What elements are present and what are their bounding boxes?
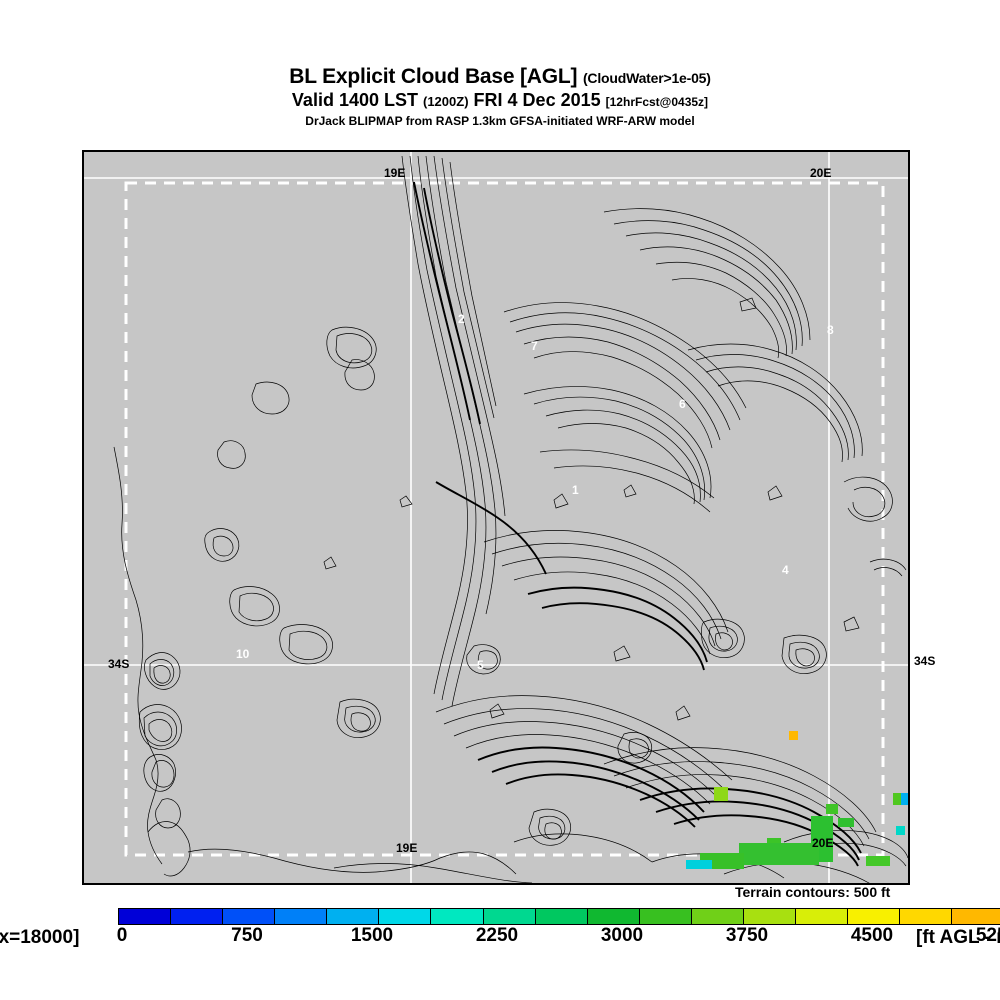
colorbar-tick-2250: 2250	[476, 925, 518, 947]
map-clip	[84, 152, 908, 883]
domain-boundary-dashed	[126, 183, 883, 855]
cloud-base-cells	[686, 731, 908, 869]
colorbar-cell-8	[536, 909, 588, 924]
lat-label-34s-right: 34S	[914, 654, 935, 668]
colorbar-cell-6	[431, 909, 483, 924]
colorbar-tick-4500: 4500	[851, 925, 893, 947]
colorbar-cell-7	[484, 909, 536, 924]
colorbar-cell-10	[640, 909, 692, 924]
lon-label-20e-top: 20E	[810, 166, 831, 180]
colorbar-cell-12	[744, 909, 796, 924]
map-plot-area[interactable]	[82, 150, 910, 885]
colorbar-cell-11	[692, 909, 744, 924]
waypoint-2[interactable]: 2	[458, 312, 465, 326]
waypoint-6[interactable]: 6	[679, 397, 686, 411]
valid-prefix: Valid 1400 LST	[292, 90, 418, 110]
colorbar-tick-0: 0	[117, 925, 128, 947]
colorbar-ticks: 075015002250300037504500525060006750	[0, 925, 1000, 951]
title-main: BL Explicit Cloud Base [AGL]	[289, 65, 577, 88]
forecast-tag: [12hrFcst@0435z]	[606, 95, 708, 109]
waypoint-1[interactable]: 1	[572, 483, 579, 497]
colorbar-cell-1	[171, 909, 223, 924]
waypoint-8[interactable]: 8	[827, 323, 834, 337]
waypoint-7[interactable]: 7	[531, 339, 538, 353]
colorbar-strip[interactable]	[118, 908, 1000, 925]
colorbar-cell-2	[223, 909, 275, 924]
colorbar-strip-holder	[0, 905, 1000, 927]
colorbar-cell-13	[796, 909, 848, 924]
colorbar-cell-15	[900, 909, 952, 924]
waypoint-10[interactable]: 10	[236, 647, 249, 661]
valid-date: FRI 4 Dec 2015	[474, 90, 601, 110]
colorbar-cell-4	[327, 909, 379, 924]
colorbar-cell-9	[588, 909, 640, 924]
colorbar-cell-5	[379, 909, 431, 924]
lon-label-19e-bottom: 19E	[396, 841, 417, 855]
terrain-contours	[114, 156, 908, 883]
title-block: BL Explicit Cloud Base [AGL] (CloudWater…	[0, 66, 1000, 128]
page-title: BL Explicit Cloud Base [AGL] (CloudWater…	[0, 66, 1000, 88]
waypoint-5[interactable]: 5	[477, 658, 484, 672]
title-main-suffix: (CloudWater>1e-05)	[583, 70, 711, 86]
valid-utc: (1200Z)	[423, 94, 469, 109]
lon-label-20e-bottom: 20E	[812, 836, 833, 850]
colorbar-tick-750: 750	[231, 925, 263, 947]
colorbar-max-label: ax=18000]	[0, 927, 79, 949]
colorbar-cell-3	[275, 909, 327, 924]
model-source: DrJack BLIPMAP from RASP 1.3km GFSA-init…	[0, 114, 1000, 128]
valid-time-line: Valid 1400 LST (1200Z) FRI 4 Dec 2015 [1…	[0, 90, 1000, 111]
terrain-contour-note: Terrain contours: 500 ft	[735, 884, 890, 900]
colorbar: 075015002250300037504500525060006750 ax=…	[0, 905, 1000, 955]
colorbar-units-label: [ft AGL - m	[916, 927, 1000, 949]
colorbar-cell-14	[848, 909, 900, 924]
lat-label-34s-left: 34S	[108, 657, 129, 671]
colorbar-tick-3750: 3750	[726, 925, 768, 947]
colorbar-tick-1500: 1500	[351, 925, 393, 947]
waypoint-4[interactable]: 4	[782, 563, 789, 577]
lon-label-19e-top: 19E	[384, 166, 405, 180]
colorbar-tick-3000: 3000	[601, 925, 643, 947]
colorbar-cell-0	[119, 909, 171, 924]
colorbar-cell-16	[952, 909, 1000, 924]
map-contour-layer	[84, 152, 908, 883]
